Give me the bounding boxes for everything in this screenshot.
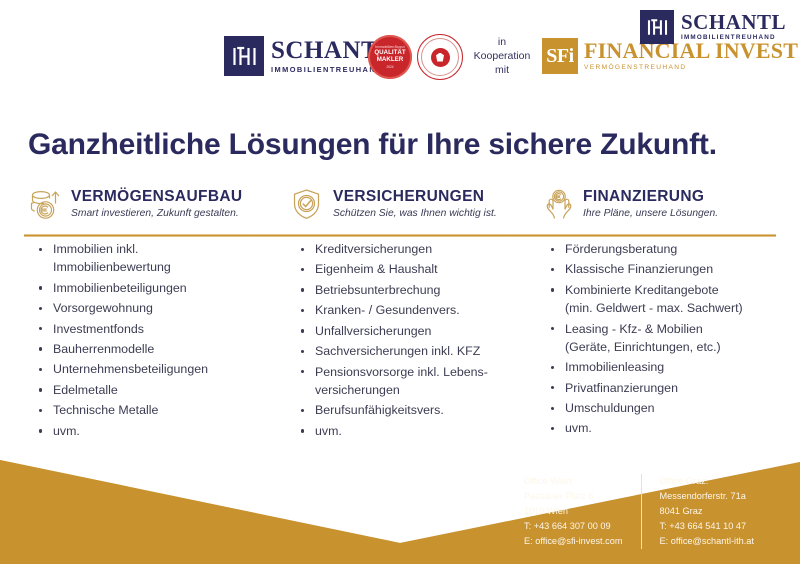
- column-title: VERMÖGENSAUFBAU: [71, 188, 242, 205]
- coins-euro-growth-icon: [28, 187, 62, 223]
- column-title: VERSICHERUNGEN: [333, 188, 497, 205]
- column-header: FINANZIERUNG Ihre Pläne, unsere Lösungen…: [540, 186, 774, 230]
- column-titles: FINANZIERUNG Ihre Pläne, unsere Lösungen…: [583, 186, 718, 219]
- certification-seals: ImmobilienScout QUALITÄTMAKLER 2024: [368, 34, 463, 80]
- list-item: Kranken- / Gesundenvers.: [298, 301, 540, 319]
- bullet-list: Kreditversicherungen Eigenheim & Haushal…: [298, 240, 540, 442]
- footer-offices: Office Wien: Passauer Platz 6 1010 Wien …: [524, 474, 754, 549]
- office-graz: Office Graz: Messendorferstr. 71a 8041 G…: [641, 474, 754, 549]
- column-subtitle: Schützen Sie, was Ihnen wichtig ist.: [333, 208, 497, 219]
- ith-monogram-icon: [224, 36, 264, 76]
- office-city: 8041 Graz: [660, 504, 754, 519]
- list-item: uvm.: [36, 422, 290, 440]
- office-city: 1010 Wien: [524, 504, 623, 519]
- gold-divider: [24, 234, 776, 237]
- list-item: Kreditversicherungen: [298, 240, 540, 258]
- column-versicherungen: VERSICHERUNGEN Schützen Sie, was Ihnen w…: [290, 186, 540, 230]
- bullet-list: Immobilien inkl.Immobilienbewertung Immo…: [36, 240, 290, 442]
- list-item: uvm.: [548, 419, 774, 437]
- office-phone[interactable]: T: +43 664 541 10 47: [660, 519, 754, 534]
- office-phone[interactable]: T: +43 664 307 00 09: [524, 519, 623, 534]
- qualitaetsmakler-seal-icon: ImmobilienScout QUALITÄTMAKLER 2024: [368, 35, 412, 79]
- list-item: Privatfinanzierungen: [548, 379, 774, 397]
- list-item: Immobilien inkl.Immobilienbewertung: [36, 240, 290, 276]
- logo-ith-schantl-right: SCHANTL IMMOBILIENTREUHAND: [640, 10, 786, 44]
- poster-page: SCHANTL IMMOBILIENTREUHAND ImmobilienSco…: [0, 0, 800, 564]
- column-finanzierung: FINANZIERUNG Ihre Pläne, unsere Lösungen…: [540, 186, 774, 230]
- column-titles: VERSICHERUNGEN Schützen Sie, was Ihnen w…: [333, 186, 497, 219]
- column-title: FINANZIERUNG: [583, 188, 718, 205]
- office-street: Passauer Platz 6: [524, 489, 623, 504]
- list-item: Immobilienleasing: [548, 358, 774, 376]
- ith-name: SCHANTL: [681, 12, 786, 33]
- office-name: Office Wien:: [524, 474, 623, 489]
- logo-bar: SCHANTL IMMOBILIENTREUHAND ImmobilienSco…: [0, 0, 800, 100]
- list-item: uvm.: [298, 422, 540, 440]
- bullet-list: Förderungsberatung Klassische Finanzieru…: [548, 240, 774, 440]
- column-titles: VERMÖGENSAUFBAU Smart investieren, Zukun…: [71, 186, 242, 219]
- list-item: Eigenheim & Haushalt: [298, 260, 540, 278]
- sfi-tagline: VERMÖGENSTREUHAND: [584, 65, 798, 72]
- ith-wordmark: SCHANTL IMMOBILIENTREUHAND: [681, 12, 786, 41]
- list-item: Umschuldungen: [548, 399, 774, 417]
- list-item: Unfallversicherungen: [298, 322, 540, 340]
- verband-seal-icon: [417, 34, 463, 80]
- office-email[interactable]: E: office@sfi-invest.com: [524, 534, 623, 549]
- sfi-wordmark: FINANCIAL INVEST VERMÖGENSTREUHAND: [584, 40, 798, 72]
- shield-check-icon: [290, 187, 324, 223]
- service-columns: VERMÖGENSAUFBAU Smart investieren, Zukun…: [28, 186, 774, 230]
- ith-tagline: IMMOBILIENTREUHAND: [681, 35, 786, 41]
- list-item: Sachversicherungen inkl. KFZ: [298, 342, 540, 360]
- list-item: Investmentfonds: [36, 320, 290, 338]
- list-item: Vorsorgewohnung: [36, 299, 290, 317]
- column-header: VERSICHERUNGEN Schützen Sie, was Ihnen w…: [290, 186, 540, 230]
- office-name: Office Graz:: [660, 474, 754, 489]
- list-item: Leasing - Kfz- & Mobilien(Geräte, Einric…: [548, 320, 774, 356]
- list-item: Immobilienbeteiligungen: [36, 279, 290, 297]
- ith-monogram-icon: [640, 10, 674, 44]
- list-item: Förderungsberatung: [548, 240, 774, 258]
- list-item: Technische Metalle: [36, 401, 290, 419]
- office-street: Messendorferstr. 71a: [660, 489, 754, 504]
- list-item: Unternehmensbeteiligungen: [36, 360, 290, 378]
- list-item: Klassische Finanzierungen: [548, 260, 774, 278]
- column-subtitle: Smart investieren, Zukunft gestalten.: [71, 208, 242, 219]
- list-item: Berufsunfähigkeitsvers.: [298, 401, 540, 419]
- column-subtitle: Ihre Pläne, unsere Lösungen.: [583, 208, 718, 219]
- column-header: VERMÖGENSAUFBAU Smart investieren, Zukun…: [28, 186, 290, 230]
- hands-holding-euro-icon: [540, 187, 574, 223]
- column-vermoegensaufbau: VERMÖGENSAUFBAU Smart investieren, Zukun…: [28, 186, 290, 230]
- office-wien: Office Wien: Passauer Platz 6 1010 Wien …: [524, 474, 641, 549]
- list-item: Bauherrenmodelle: [36, 340, 290, 358]
- page-headline: Ganzheitliche Lösungen für Ihre sichere …: [28, 128, 717, 162]
- list-item: Pensionsvorsorge inkl. Lebens-versicheru…: [298, 363, 540, 399]
- list-item: Betriebsunterbrechung: [298, 281, 540, 299]
- list-item: Kombinierte Kreditangebote(min. Geldwert…: [548, 281, 774, 317]
- office-email[interactable]: E: office@schantl-ith.at: [660, 534, 754, 549]
- sfi-monogram-icon: SFi: [542, 38, 578, 74]
- list-item: Edelmetalle: [36, 381, 290, 399]
- cooperation-label: inKooperationmit: [466, 36, 538, 78]
